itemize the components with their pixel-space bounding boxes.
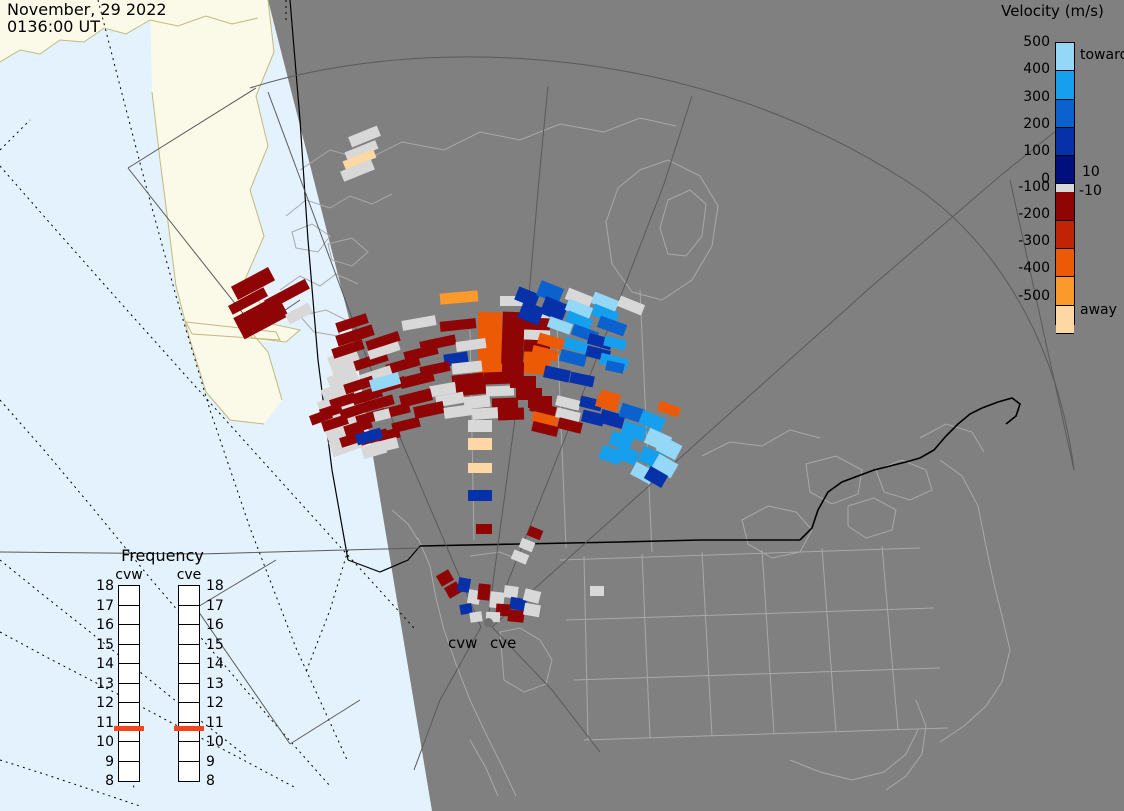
frequency-tick-label: 12 <box>92 696 114 710</box>
radar-site-label-cve: cve <box>490 634 516 652</box>
frequency-tick-label: 10 <box>92 735 114 749</box>
velocity-cell[interactable] <box>457 577 471 593</box>
frequency-tick-label: 18 <box>206 579 228 593</box>
velocity-colorbar-segment <box>1056 249 1074 277</box>
velocity-colorbar-segment <box>1056 100 1074 128</box>
velocity-cell[interactable] <box>468 420 492 432</box>
inner-positive-label: 10 <box>1082 165 1100 179</box>
velocity-cell[interactable] <box>498 408 524 421</box>
frequency-legend-title: Frequency <box>95 546 230 565</box>
frequency-cell <box>119 684 139 704</box>
frequency-cell <box>179 762 199 782</box>
frequency-cell <box>179 606 199 626</box>
frequency-tick-label: 9 <box>206 755 228 769</box>
frequency-marker-cvw <box>114 726 144 731</box>
frequency-marker-cve <box>174 726 204 731</box>
frequency-cell <box>179 684 199 704</box>
velocity-legend-title: Velocity (m/s) <box>981 2 1124 20</box>
frequency-tick-label: 16 <box>206 618 228 632</box>
velocity-cell[interactable] <box>469 611 482 623</box>
frequency-cell <box>179 625 199 645</box>
velocity-cell[interactable] <box>476 524 492 534</box>
frequency-tick-label: 8 <box>206 774 228 788</box>
frequency-column-cvw[interactable] <box>118 585 140 782</box>
toward-label: toward <box>1080 48 1124 62</box>
timestamp-time: 0136:00 UT <box>7 17 100 36</box>
superdarn-map-panel: November, 29 20220136:00 UT Velocity (m/… <box>0 0 1124 811</box>
velocity-cell[interactable] <box>510 376 536 388</box>
velocity-colorbar-segment <box>1056 43 1074 71</box>
velocity-cell[interactable] <box>472 407 499 420</box>
velocity-tick-label: 400 <box>1023 62 1050 76</box>
velocity-cell[interactable] <box>478 312 503 331</box>
frequency-cell <box>119 645 139 665</box>
frequency-column-cve[interactable] <box>178 585 200 782</box>
frequency-tick-label: 10 <box>206 735 228 749</box>
velocity-cell[interactable] <box>468 490 492 501</box>
velocity-tick-label: 200 <box>1023 117 1050 131</box>
velocity-cell[interactable] <box>468 463 492 473</box>
frequency-cell <box>119 606 139 626</box>
frequency-cell <box>119 762 139 782</box>
frequency-tick-label: 17 <box>92 599 114 613</box>
velocity-colorbar-segment <box>1056 277 1074 305</box>
velocity-colorbar-segment <box>1056 71 1074 99</box>
away-label: away <box>1080 303 1117 317</box>
velocity-tick-label: -300 <box>1018 234 1050 248</box>
velocity-colorbar[interactable] <box>1055 42 1075 325</box>
velocity-colorbar-segment <box>1056 192 1074 220</box>
frequency-tick-label: 15 <box>206 638 228 652</box>
velocity-cell[interactable] <box>486 386 514 397</box>
velocity-colorbar-segment <box>1056 184 1074 192</box>
velocity-tick-label: -400 <box>1018 261 1050 275</box>
radar-site-label-cvw: cvw <box>448 634 477 652</box>
velocity-cell[interactable] <box>477 583 491 600</box>
velocity-cell[interactable] <box>468 438 492 450</box>
inner-negative-label: -10 <box>1079 184 1102 198</box>
frequency-tick-label: 11 <box>92 716 114 730</box>
velocity-colorbar-segment <box>1056 306 1074 334</box>
frequency-tick-label: 14 <box>92 657 114 671</box>
velocity-cell[interactable] <box>527 526 544 541</box>
velocity-cell[interactable] <box>590 586 604 596</box>
timestamp: November, 29 20220136:00 UT <box>7 1 167 35</box>
velocity-tick-label: -100 <box>1018 180 1050 194</box>
frequency-cell <box>179 703 199 723</box>
velocity-colorbar-segment <box>1056 156 1074 184</box>
velocity-cell[interactable] <box>519 538 536 553</box>
velocity-cell[interactable] <box>543 365 571 382</box>
velocity-colorbar-segment <box>1056 128 1074 156</box>
frequency-cell <box>119 703 139 723</box>
frequency-tick-label: 13 <box>92 677 114 691</box>
frequency-tick-label: 18 <box>92 579 114 593</box>
frequency-cell <box>119 742 139 762</box>
velocity-cell[interactable] <box>657 401 681 418</box>
frequency-tick-label: 13 <box>206 677 228 691</box>
velocity-cell[interactable] <box>523 603 541 618</box>
velocity-cell[interactable] <box>440 318 477 332</box>
frequency-cell <box>119 664 139 684</box>
velocity-tick-label: -200 <box>1018 207 1050 221</box>
frequency-tick-label: 14 <box>206 657 228 671</box>
radar-site-dot <box>484 618 493 627</box>
velocity-cell[interactable] <box>617 296 645 316</box>
velocity-cell[interactable] <box>569 372 595 388</box>
frequency-cell <box>179 742 199 762</box>
frequency-tick-label: 15 <box>92 638 114 652</box>
frequency-tick-label: 17 <box>206 599 228 613</box>
velocity-cell[interactable] <box>484 372 512 385</box>
frequency-cell <box>119 586 139 606</box>
velocity-tick-label: 300 <box>1023 90 1050 104</box>
frequency-cell <box>179 645 199 665</box>
frequency-tick-label: 8 <box>92 774 114 788</box>
velocity-colorbar-segment <box>1056 221 1074 249</box>
frequency-cell <box>179 586 199 606</box>
velocity-cell[interactable] <box>503 585 519 599</box>
velocity-tick-label: 100 <box>1023 144 1050 158</box>
velocity-cell[interactable] <box>401 315 436 331</box>
velocity-tick-label: 500 <box>1023 35 1050 49</box>
frequency-tick-label: 12 <box>206 696 228 710</box>
velocity-cell[interactable] <box>440 290 479 304</box>
velocity-cell[interactable] <box>501 312 525 365</box>
velocity-cell[interactable] <box>373 408 391 422</box>
frequency-cell <box>119 625 139 645</box>
velocity-cell[interactable] <box>443 404 472 419</box>
frequency-tick-label: 16 <box>92 618 114 632</box>
velocity-tick-label: -500 <box>1018 289 1050 303</box>
frequency-tick-label: 9 <box>92 755 114 769</box>
velocity-cell[interactable] <box>511 549 530 564</box>
frequency-cell <box>179 664 199 684</box>
velocity-cell[interactable] <box>285 303 313 325</box>
frequency-tick-label: 11 <box>206 716 228 730</box>
velocity-cell[interactable] <box>507 609 524 623</box>
